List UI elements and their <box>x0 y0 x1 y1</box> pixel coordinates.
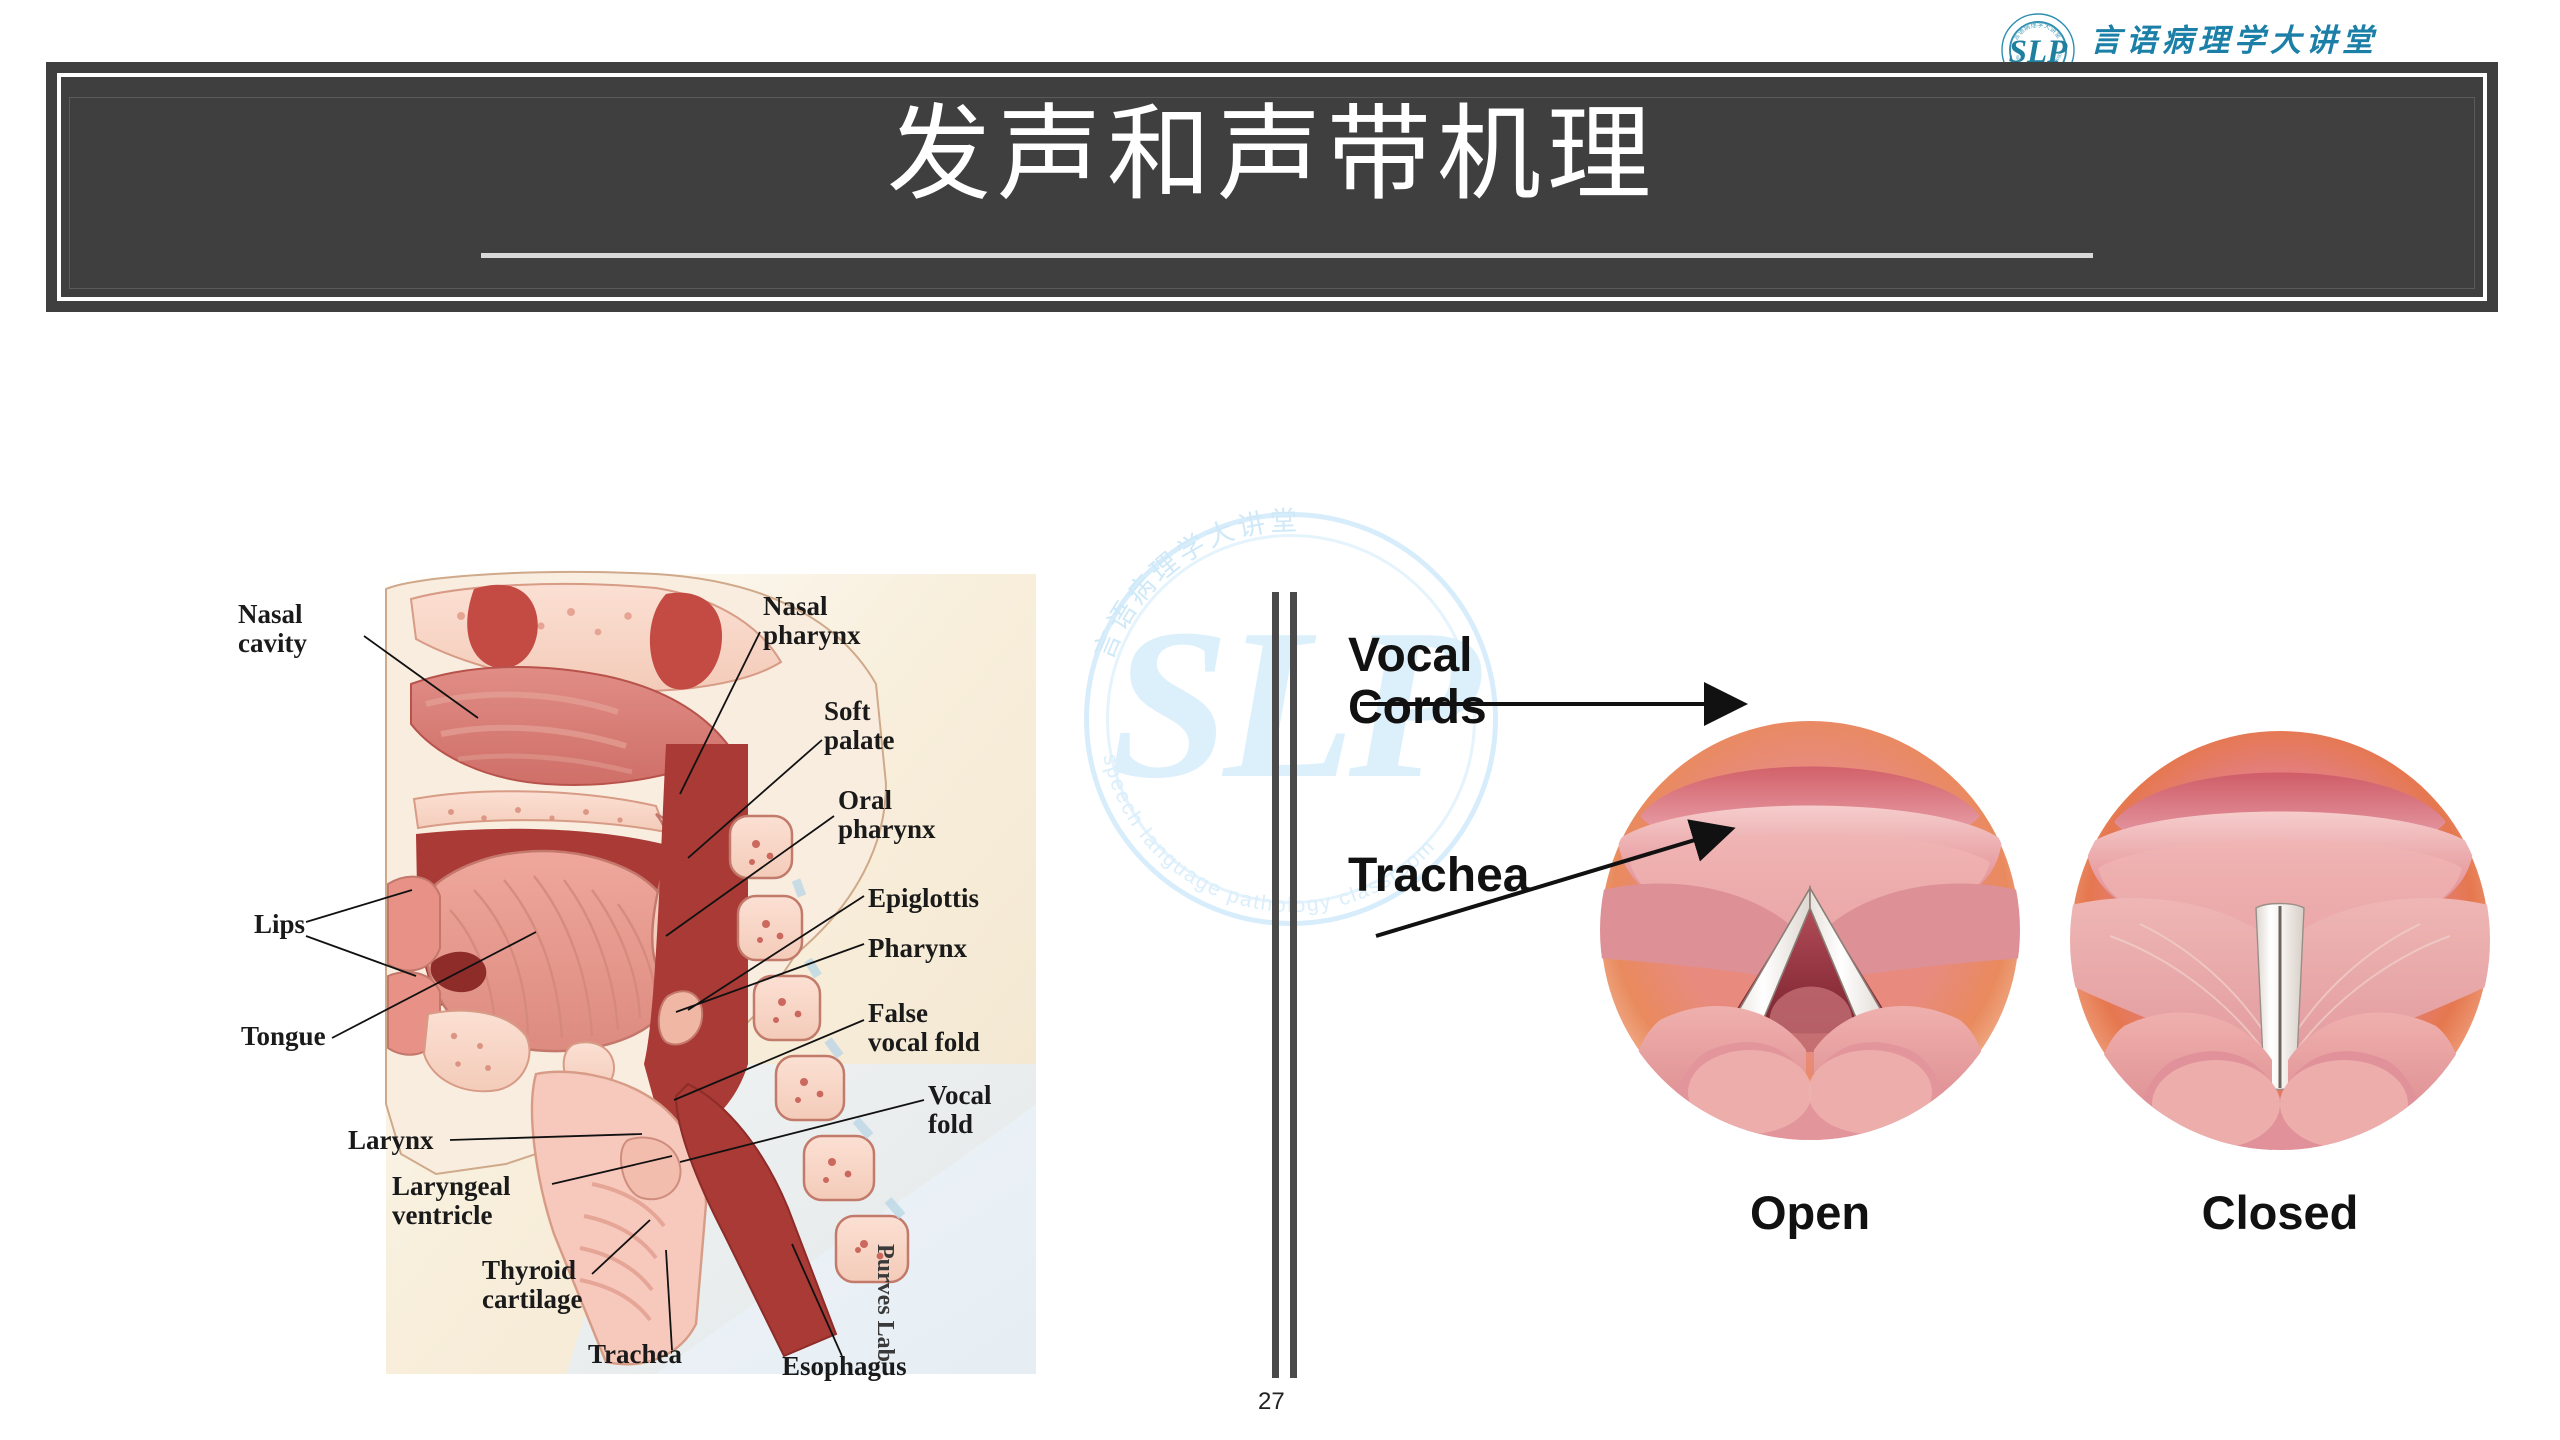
slide: SLP 言语病理学大讲堂 speech language pathology c… <box>0 0 2560 1440</box>
vertical-divider-line-1 <box>1272 592 1279 1378</box>
sagittal-anatomy-illustration <box>236 544 1096 1404</box>
page-number: 27 <box>1258 1388 1285 1416</box>
caption-closed: Closed <box>2070 1185 2490 1240</box>
svg-text:言语病理学大讲堂: 言语病理学大讲堂 <box>1089 506 1302 664</box>
anat-label-soft-palate: Soft palate <box>824 697 895 754</box>
anat-label-trachea: Trachea <box>588 1340 682 1369</box>
larynx-figures: Vocal Cords Trachea Open Closed <box>1330 640 2560 1400</box>
anat-label-thyroid-cartilage: Thyroid cartilage <box>482 1256 582 1313</box>
anat-label-false-vocal-fold: False vocal fold <box>868 999 980 1056</box>
anat-label-lips: Lips <box>254 910 305 939</box>
figure-credit: Purves Lab <box>871 1244 898 1362</box>
anat-label-nasal-pharynx: Nasal pharynx <box>763 592 861 649</box>
larynx-open-illustration <box>1600 720 2020 1140</box>
banner-white-inset: 发声和声带机理 <box>57 73 2487 301</box>
anat-label-laryngeal-ventricle: Laryngeal ventricle <box>392 1172 511 1229</box>
title-underline-rule <box>481 253 2093 258</box>
title-banner: 发声和声带机理 <box>46 62 2498 312</box>
anat-label-pharynx: Pharynx <box>868 934 967 963</box>
anat-label-vocal-fold: Vocal fold <box>928 1081 992 1138</box>
anat-label-epiglottis: Epiglottis <box>868 884 979 913</box>
anat-label-oral-pharynx: Oral pharynx <box>838 786 936 843</box>
larynx-closed-illustration <box>2070 730 2490 1150</box>
callout-trachea: Trachea <box>1348 850 1529 902</box>
anat-label-larynx: Larynx <box>348 1126 434 1155</box>
sagittal-vocal-tract-figure: Nasal cavity Nasal pharynx Soft palate O… <box>236 544 1096 1404</box>
anat-label-tongue: Tongue <box>241 1022 326 1051</box>
page-title: 发声和声带机理 <box>887 99 1657 213</box>
callout-vocal-cords: Vocal Cords <box>1348 630 1487 734</box>
anat-label-nasal-cavity: Nasal cavity <box>238 600 307 657</box>
caption-open: Open <box>1600 1185 2020 1240</box>
banner-inner: 发声和声带机理 <box>61 77 2483 297</box>
vertical-divider-line-2 <box>1290 592 1297 1378</box>
brand-chinese-title: 言语病理学大讲堂 <box>2090 25 2438 56</box>
